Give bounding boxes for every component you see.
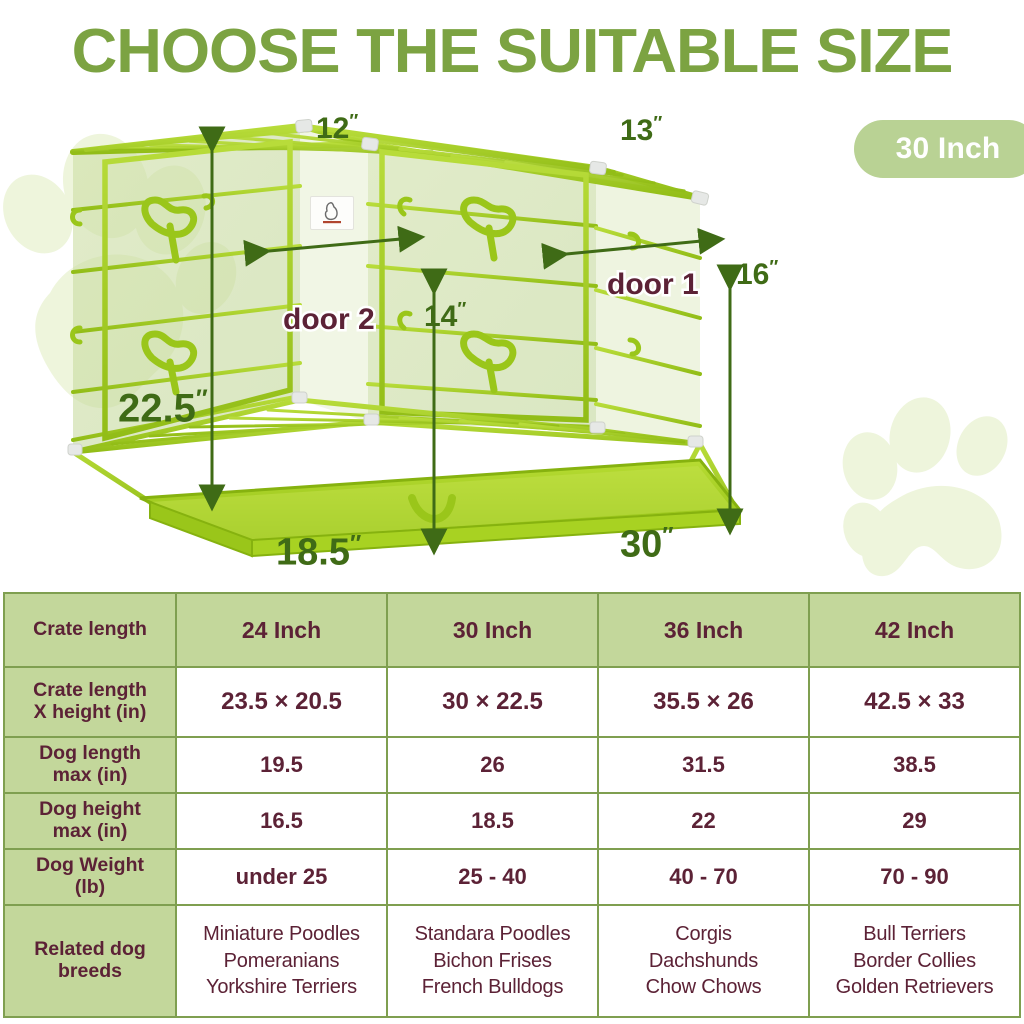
infographic-page: CHOOSE THE SUITABLE SIZE 30 Inch bbox=[0, 0, 1024, 1024]
cell-breeds-24: Miniature Poodles Pomeranians Yorkshire … bbox=[176, 905, 387, 1017]
door-1-label: door 1 bbox=[607, 270, 699, 300]
cell-crate-dimensions-36: 35.5 × 26 bbox=[598, 667, 809, 737]
crate-size-comparison-table: Crate length 24 Inch 30 Inch 36 Inch 42 … bbox=[3, 592, 1021, 1018]
dimension-label-depth: 18.5″ bbox=[276, 532, 361, 572]
dimension-label-door2-height: 14″ bbox=[424, 300, 466, 332]
door-2-label: door 2 bbox=[283, 305, 375, 335]
cell-dog-height-42: 29 bbox=[809, 793, 1020, 849]
table-row-crate-dimensions: Crate length X height (in) 23.5 × 20.5 3… bbox=[4, 667, 1020, 737]
table-row-dog-weight: Dog Weight (lb) under 25 25 - 40 40 - 70… bbox=[4, 849, 1020, 905]
table-row-dog-height: Dog height max (in) 16.5 18.5 22 29 bbox=[4, 793, 1020, 849]
dimension-label-door1-height: 16″ bbox=[736, 258, 778, 290]
cell-dog-length-24: 19.5 bbox=[176, 737, 387, 793]
table-header-col-0: 24 Inch bbox=[176, 593, 387, 667]
dimension-label-height: 22.5″ bbox=[118, 388, 208, 428]
cell-crate-dimensions-30: 30 × 22.5 bbox=[387, 667, 598, 737]
row-label-crate-dimensions: Crate length X height (in) bbox=[4, 667, 176, 737]
cell-dog-height-30: 18.5 bbox=[387, 793, 598, 849]
cell-dog-weight-24: under 25 bbox=[176, 849, 387, 905]
cell-dog-weight-42: 70 - 90 bbox=[809, 849, 1020, 905]
page-title: CHOOSE THE SUITABLE SIZE bbox=[0, 10, 1024, 94]
product-logo-sticker bbox=[310, 196, 354, 230]
dog-logo-icon bbox=[317, 200, 347, 226]
dimension-label-length: 30″ bbox=[620, 524, 674, 564]
table-row-dog-length: Dog length max (in) 19.5 26 31.5 38.5 bbox=[4, 737, 1020, 793]
table-header-row-label: Crate length bbox=[4, 593, 176, 667]
cell-dog-weight-36: 40 - 70 bbox=[598, 849, 809, 905]
table-header-col-1: 30 Inch bbox=[387, 593, 598, 667]
cell-dog-weight-30: 25 - 40 bbox=[387, 849, 598, 905]
table-header-row: Crate length 24 Inch 30 Inch 36 Inch 42 … bbox=[4, 593, 1020, 667]
table-row-related-breeds: Related dog breeds Miniature Poodles Pom… bbox=[4, 905, 1020, 1017]
cell-breeds-30: Standara Poodles Bichon Frises French Bu… bbox=[387, 905, 598, 1017]
cell-dog-length-42: 38.5 bbox=[809, 737, 1020, 793]
table-header-col-3: 42 Inch bbox=[809, 593, 1020, 667]
table-header-col-2: 36 Inch bbox=[598, 593, 809, 667]
row-label-dog-weight: Dog Weight (lb) bbox=[4, 849, 176, 905]
cell-dog-length-36: 31.5 bbox=[598, 737, 809, 793]
cell-dog-height-36: 22 bbox=[598, 793, 809, 849]
crate-illustration: 22.5″ 12″ 13″ 14″ 16″ 18.5″ 30″ door 2 d… bbox=[0, 100, 1024, 580]
cell-crate-dimensions-24: 23.5 × 20.5 bbox=[176, 667, 387, 737]
row-label-related-breeds: Related dog breeds bbox=[4, 905, 176, 1017]
cell-dog-length-30: 26 bbox=[387, 737, 598, 793]
row-label-dog-height: Dog height max (in) bbox=[4, 793, 176, 849]
dimension-label-door1-width: 13″ bbox=[620, 114, 662, 146]
cell-breeds-36: Corgis Dachshunds Chow Chows bbox=[598, 905, 809, 1017]
dimension-label-door2-width: 12″ bbox=[316, 112, 358, 144]
cell-breeds-42: Bull Terriers Border Collies Golden Retr… bbox=[809, 905, 1020, 1017]
row-label-dog-length: Dog length max (in) bbox=[4, 737, 176, 793]
cell-crate-dimensions-42: 42.5 × 33 bbox=[809, 667, 1020, 737]
cell-dog-height-24: 16.5 bbox=[176, 793, 387, 849]
